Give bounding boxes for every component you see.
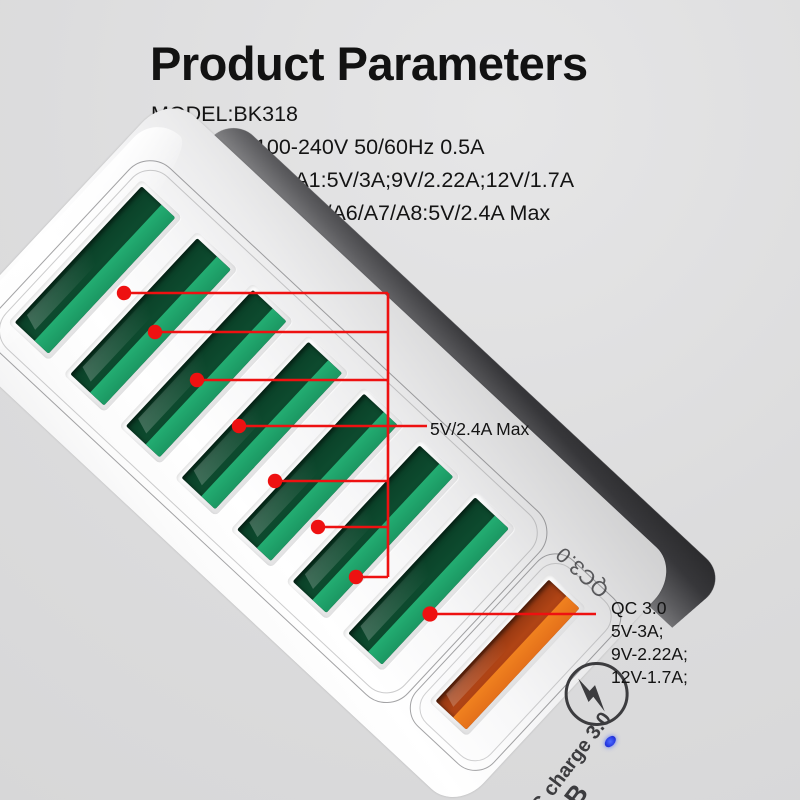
spec-line-model: MODEL:BK318: [151, 98, 574, 131]
page-title: Product Parameters: [150, 36, 588, 91]
infographic-canvas: Product Parameters MODEL:BK318 INPUT:AC …: [0, 0, 800, 800]
